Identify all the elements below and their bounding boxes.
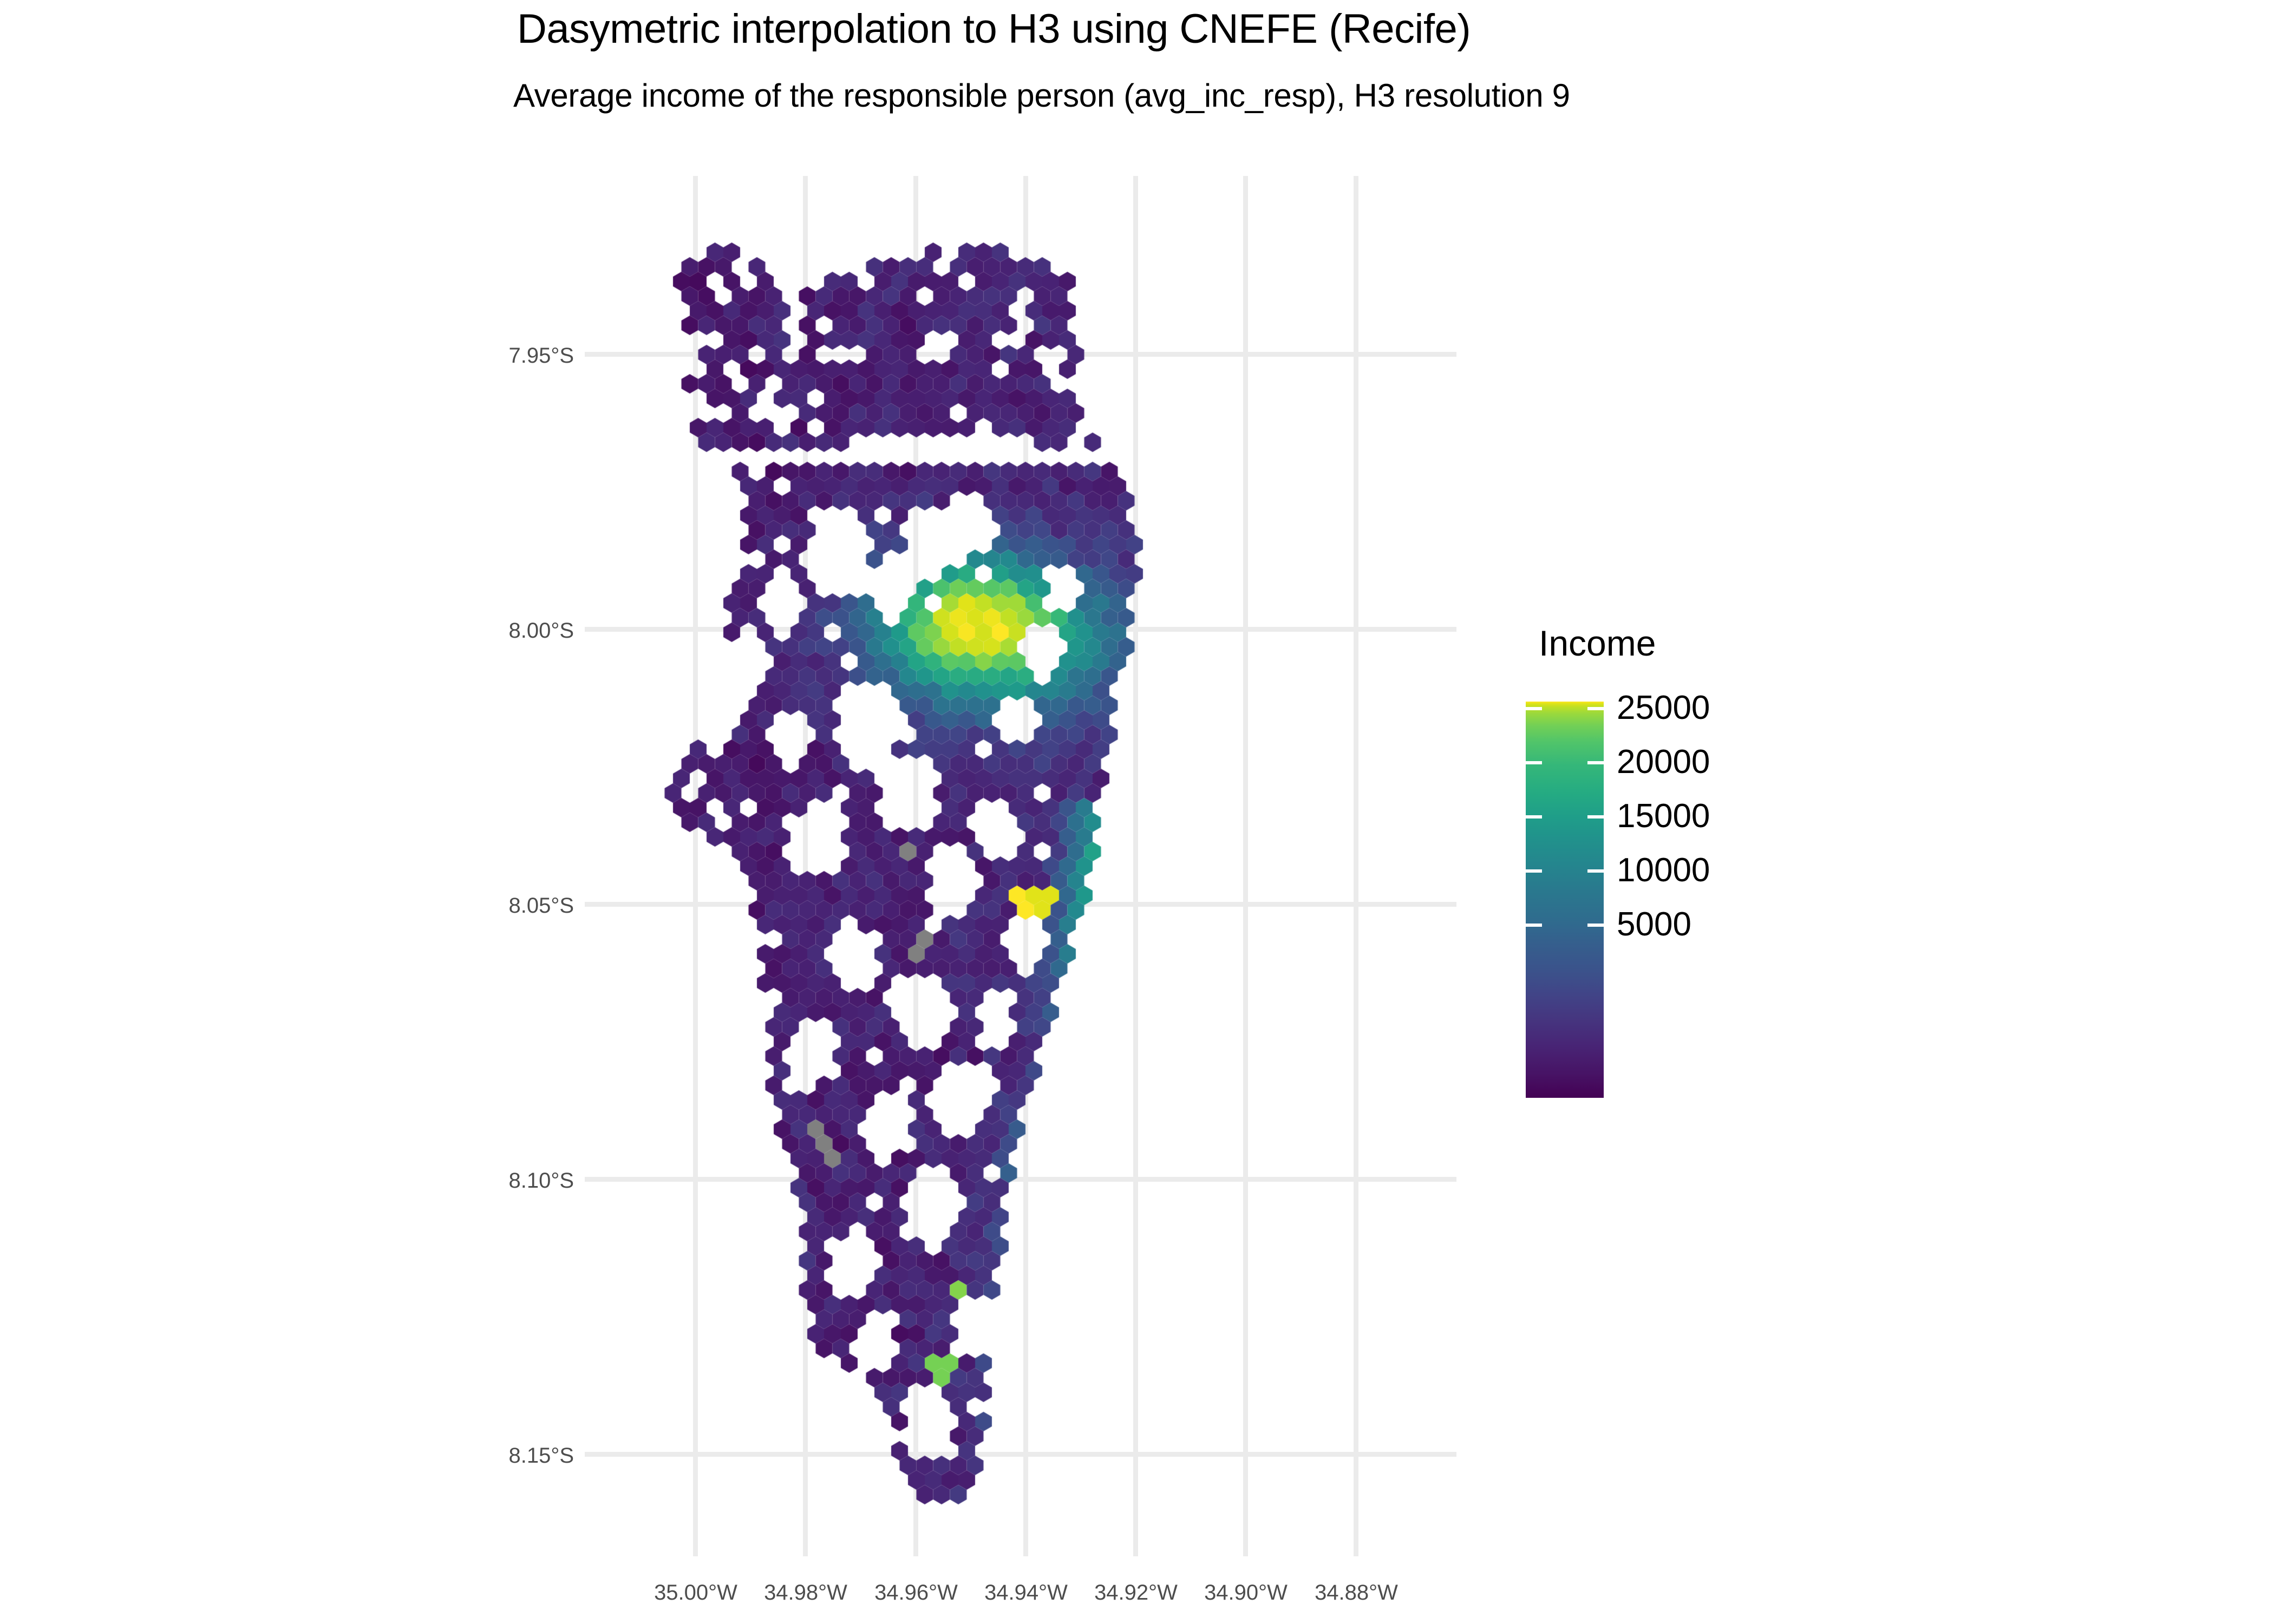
legend-tick [1526, 707, 1542, 710]
chart-root: Dasymetric interpolation to H3 using CNE… [0, 0, 2274, 1624]
legend: Income 25000 20000 15000 10000 5000 [1511, 623, 1846, 1121]
legend-label-25000: 25000 [1617, 689, 1710, 727]
legend-label-15000: 15000 [1617, 797, 1710, 835]
y-axis-tick-1: 8.00°S [476, 619, 574, 643]
legend-label-5000: 5000 [1617, 905, 1691, 944]
legend-label-20000: 20000 [1617, 743, 1710, 781]
legend-tick [1526, 869, 1542, 873]
legend-tick [1587, 924, 1604, 927]
legend-tick [1587, 869, 1604, 873]
h3-hexagon-map [585, 176, 1456, 1556]
y-axis-tick-2: 8.05°S [476, 894, 574, 918]
legend-title: Income [1539, 623, 1656, 664]
legend-tick [1526, 924, 1542, 927]
x-axis-tick-6: 34.88°W [1259, 1581, 1454, 1605]
y-axis-tick-4: 8.15°S [476, 1444, 574, 1468]
page-title: Dasymetric interpolation to H3 using CNE… [517, 5, 1471, 53]
y-axis-tick-3: 8.10°S [476, 1169, 574, 1193]
plot-panel [585, 176, 1456, 1556]
legend-tick [1587, 761, 1604, 764]
legend-tick [1526, 815, 1542, 818]
legend-tick [1587, 707, 1604, 710]
legend-tick [1587, 815, 1604, 818]
y-axis-tick-0: 7.95°S [476, 344, 574, 368]
legend-tick [1526, 761, 1542, 764]
legend-label-10000: 10000 [1617, 851, 1710, 889]
page-subtitle: Average income of the responsible person… [513, 77, 1570, 114]
